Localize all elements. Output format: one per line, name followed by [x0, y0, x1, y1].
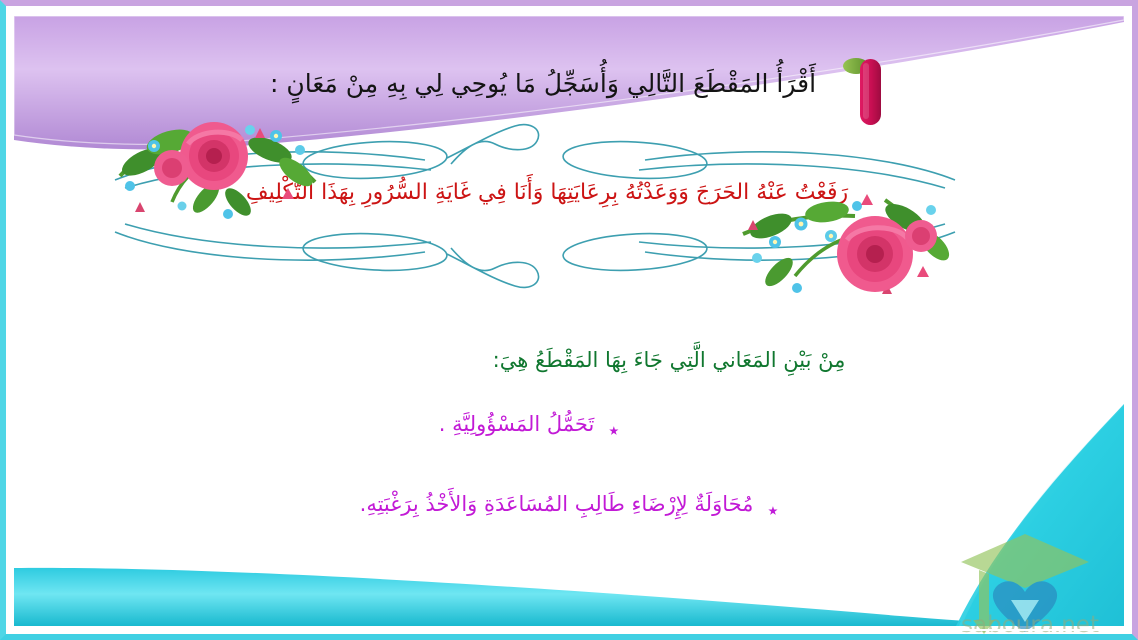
- answer-item-1-text: تَحَمُّلُ المَسْؤُولِيَّةِ .: [439, 412, 595, 436]
- answer-item-2-text: مُحَاوَلَةٌ لِإِرْضَاءِ طَالِبِ المُسَاع…: [360, 492, 754, 516]
- floral-bouquet-left-icon: [110, 110, 325, 235]
- floral-bouquet-right-icon: [735, 180, 965, 310]
- answer-item-1: ٭ تَحَمُّلُ المَسْؤُولِيَّةِ .: [0, 412, 1138, 440]
- bullet-star-icon: ٭: [608, 420, 619, 440]
- answer-item-2: ٭ مُحَاوَلَةٌ لِإِرْضَاءِ طَالِبِ المُسَ…: [0, 492, 1138, 520]
- quote-block: رَفَعْتُ عَنْهُ الحَرَجَ وَوَعَدْتُهُ بِ…: [95, 108, 985, 303]
- slide-heading: أَقْرَأُ المَقْطَعَ التَّالِي وَأُسَجِّل…: [0, 66, 1138, 102]
- question-prompt-text: مِنْ بَيْنِ المَعَاني الَّتِي جَاءَ بِهَ…: [493, 348, 846, 372]
- bullet-star-icon: ٭: [767, 500, 778, 520]
- bottom-left-cyan-sweep: [14, 568, 1060, 626]
- question-prompt: مِنْ بَيْنِ المَعَاني الَّتِي جَاءَ بِهَ…: [0, 348, 1138, 372]
- slide-canvas: أَقْرَأُ المَقْطَعَ التَّالِي وَأُسَجِّل…: [0, 0, 1138, 640]
- graduation-cap-heart-logo-icon: [955, 528, 1095, 636]
- answer-list: ٭ تَحَمُّلُ المَسْؤُولِيَّةِ . ٭ مُحَاوَ…: [0, 412, 1138, 520]
- slide-heading-text: أَقْرَأُ المَقْطَعَ التَّالِي وَأُسَجِّل…: [270, 66, 868, 102]
